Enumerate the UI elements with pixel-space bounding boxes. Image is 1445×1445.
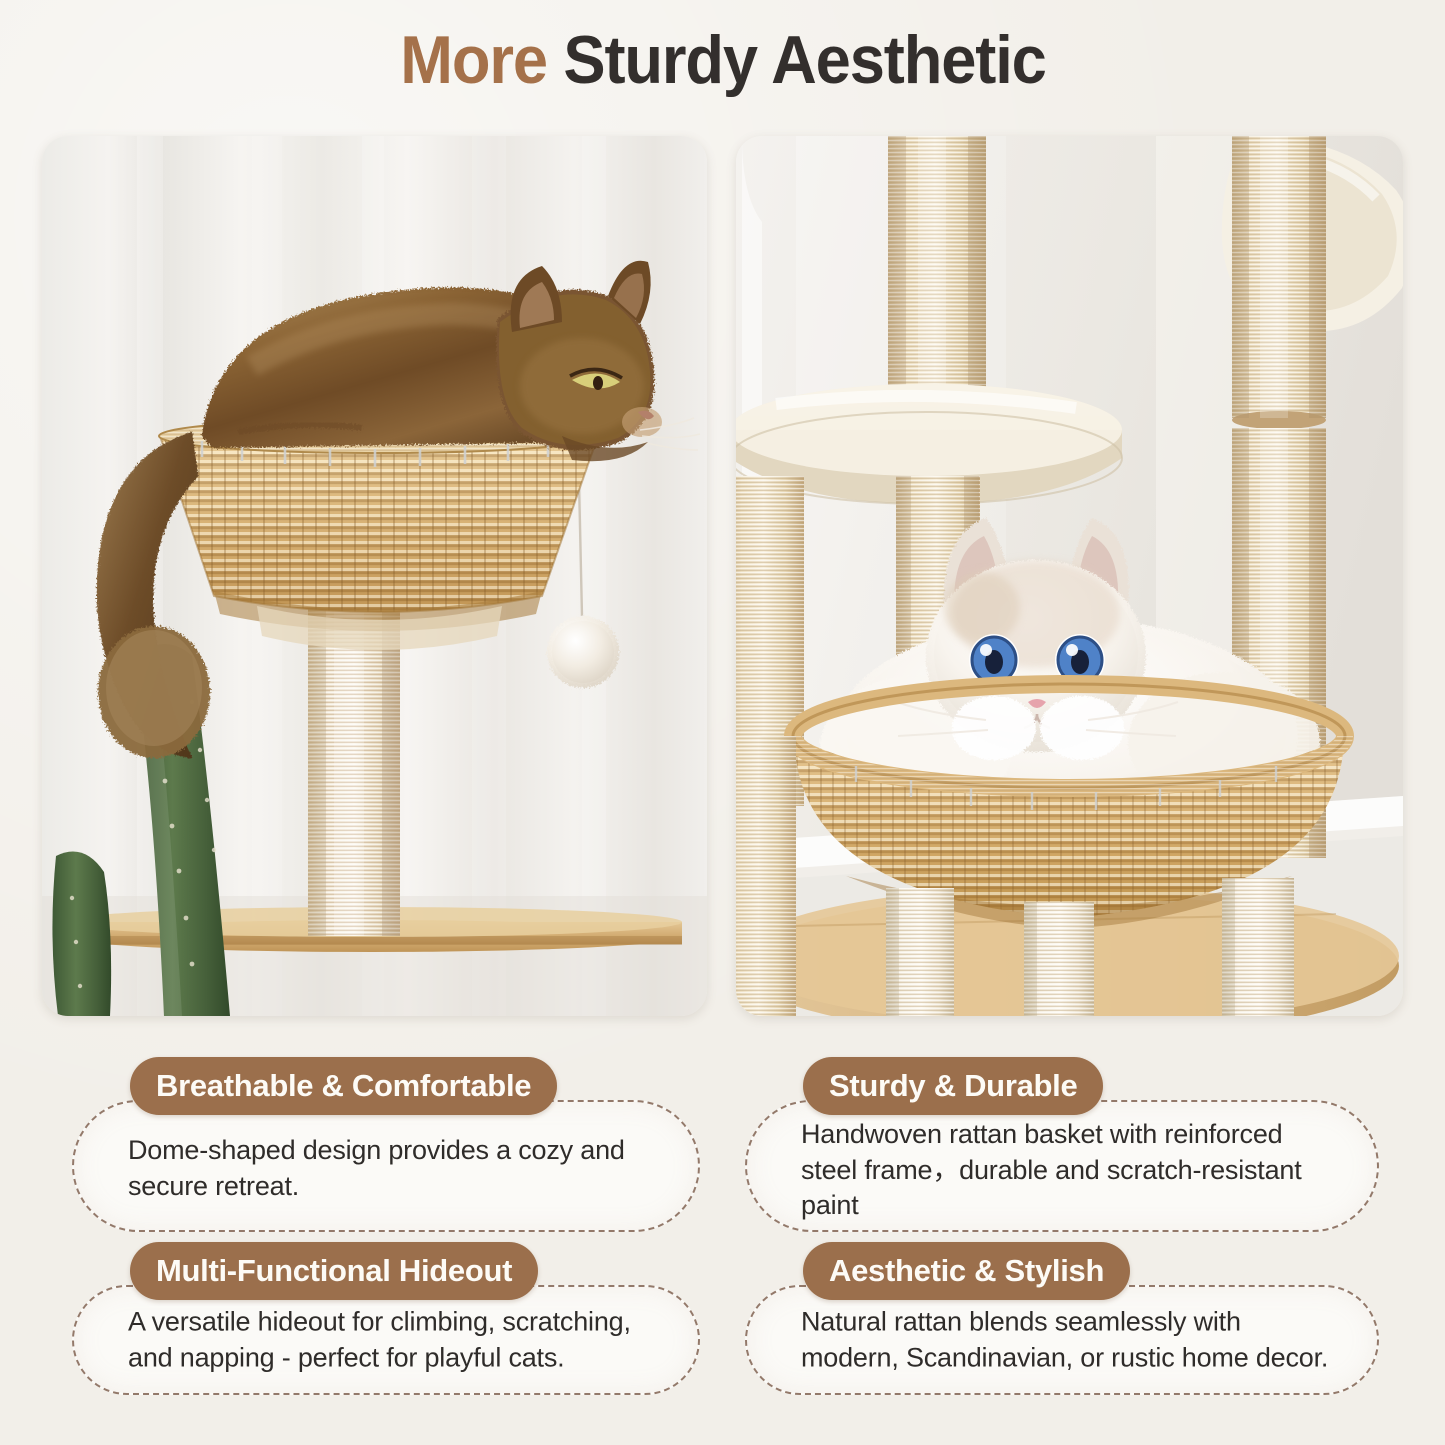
feature-card-breathable-comfortable: Dome-shaped design provides a cozy and s…	[72, 1100, 700, 1232]
feature-badge-sturdy-durable: Sturdy & Durable	[803, 1057, 1103, 1115]
photo-left-illustration	[42, 136, 707, 1016]
feature-card-aesthetic-stylish: Natural rattan blends seamlessly with mo…	[745, 1285, 1379, 1395]
feature-description: Handwoven rattan basket with reinforced …	[801, 1117, 1343, 1224]
feature-description: A versatile hideout for climbing, scratc…	[128, 1304, 664, 1375]
feature-badge-aesthetic-stylish: Aesthetic & Stylish	[803, 1242, 1130, 1300]
feature-description: Dome-shaped design provides a cozy and s…	[128, 1133, 664, 1204]
page-title-text: More Sturdy Aesthetic	[400, 16, 1045, 104]
feature-description: Natural rattan blends seamlessly with mo…	[801, 1304, 1343, 1375]
sisal-post-top	[888, 136, 986, 417]
feature-badge-multi-functional-hideout: Multi-Functional Hideout	[130, 1242, 538, 1300]
feature-card-multi-functional-hideout: A versatile hideout for climbing, scratc…	[72, 1285, 700, 1395]
page-title: More Sturdy Aesthetic	[0, 16, 1445, 104]
product-photo-left	[42, 136, 707, 1016]
feature-badge-breathable-comfortable: Breathable & Comfortable	[130, 1057, 557, 1115]
page-title-accent-word: More	[400, 22, 547, 98]
sisal-post-left-edge	[736, 736, 796, 1016]
product-photo-right	[736, 136, 1403, 1016]
page-title-main-words: Sturdy Aesthetic	[563, 22, 1045, 98]
infographic-page: More Sturdy Aesthetic	[0, 0, 1445, 1445]
feature-card-sturdy-durable: Handwoven rattan basket with reinforced …	[745, 1100, 1379, 1232]
photo-right-illustration	[736, 136, 1403, 1016]
